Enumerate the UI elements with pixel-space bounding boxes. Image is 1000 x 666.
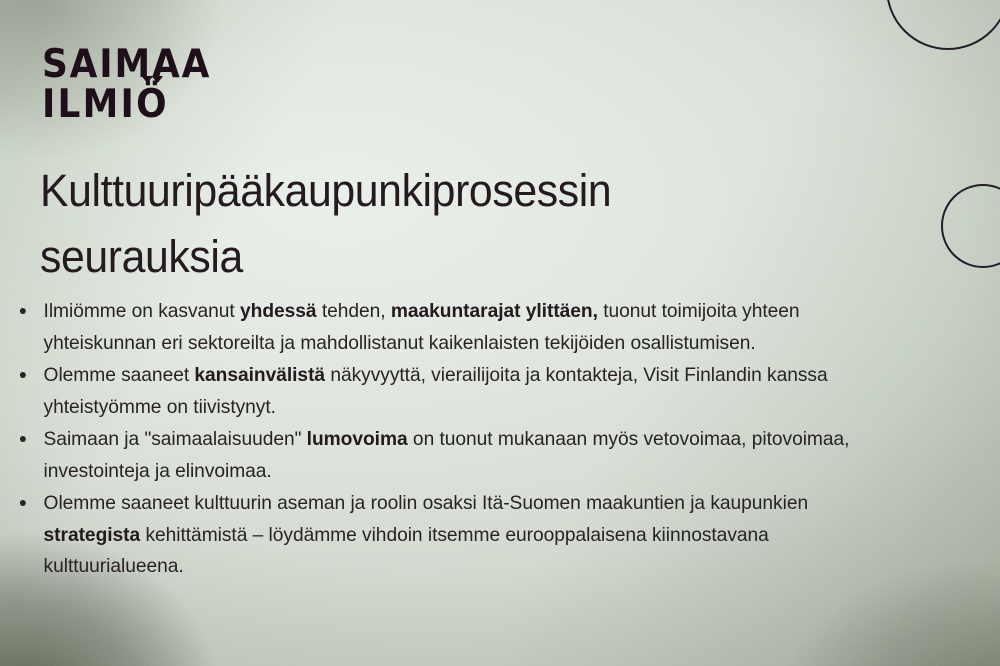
bullet-text: Saimaan ja "saimaalaisuuden" lumovoima o… — [44, 428, 850, 482]
bullet-segment: tehden, — [317, 300, 391, 322]
bullet-dot-icon — [20, 372, 26, 378]
saimaa-ilmio-logo: SAIMAA ILMIÖ — [42, 45, 226, 125]
bullet-segment: Saimaan ja "saimaalaisuuden" — [44, 428, 307, 450]
list-item: Ilmiömme on kasvanut yhdessä tehden, maa… — [14, 296, 881, 359]
logo-zigzag-umlaut-icon — [142, 76, 162, 84]
bullet-text: Olemme saaneet kansainvälistä näkyvyyttä… — [44, 364, 828, 418]
bullet-dot-icon — [20, 308, 26, 314]
bullet-segment-bold: maakuntarajat ylittäen, — [391, 300, 598, 322]
bullet-list: Ilmiömme on kasvanut yhdessä tehden, maa… — [14, 296, 894, 584]
bullet-dot-icon — [20, 436, 26, 442]
page-title: Kulttuuripääkaupunkiprosessin seurauksia — [40, 158, 743, 290]
bullet-segment: Ilmiömme on kasvanut — [44, 300, 240, 322]
logo-line-ilmio: ILMIÖ — [42, 85, 211, 125]
bullet-dot-icon — [20, 500, 26, 506]
presentation-slide: SAIMAA ILMIÖ Kulttuuripääkaupunkiprosess… — [0, 0, 1000, 666]
bullet-segment-bold: yhdessä — [240, 300, 317, 322]
list-item: Olemme saaneet kansainvälistä näkyvyyttä… — [14, 360, 881, 423]
bullet-text: Ilmiömme on kasvanut yhdessä tehden, maa… — [44, 300, 800, 354]
bullet-segment-bold: lumovoima — [307, 428, 408, 450]
bullet-segment: kehittämistä – löydämme vihdoin itsemme … — [44, 524, 769, 578]
bullet-segment-bold: kansainvälistä — [194, 364, 325, 386]
list-item: Olemme saaneet kulttuurin aseman ja rool… — [14, 488, 881, 583]
logo-text-ilmi: ILMI — [42, 82, 136, 127]
bullet-segment-bold: strategista — [44, 524, 141, 546]
logo-letter-o: Ö — [136, 82, 169, 127]
logo-o-umlaut-glyph: Ö — [136, 85, 169, 125]
bullet-segment: Olemme saaneet — [44, 364, 195, 386]
bullet-text: Olemme saaneet kulttuurin aseman ja rool… — [44, 492, 809, 577]
logo-line-saimaa: SAIMAA — [42, 45, 211, 85]
list-item: Saimaan ja "saimaalaisuuden" lumovoima o… — [14, 424, 881, 487]
bullet-segment: Olemme saaneet kulttuurin aseman ja rool… — [44, 492, 809, 514]
